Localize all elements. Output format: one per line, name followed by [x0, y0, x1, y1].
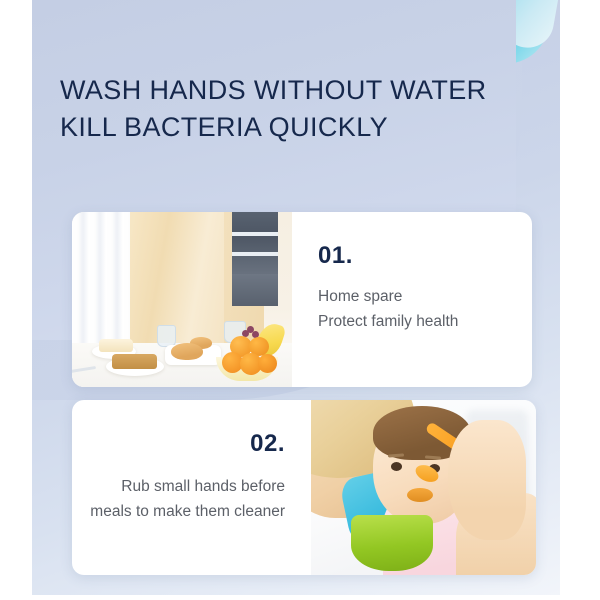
- glass-shape-1: [157, 325, 176, 347]
- feature-photo-breakfast-table: [72, 212, 292, 387]
- feature-card-2[interactable]: 02. Rub small hands before meals to make…: [72, 400, 536, 575]
- feature-card-1-line-2: Protect family health: [318, 309, 510, 334]
- dark-window-shape: [232, 212, 278, 276]
- feature-card-2-line-2: meals to make them cleaner: [90, 499, 285, 524]
- baby-eye-left: [391, 462, 402, 471]
- baby-mouth-shape: [407, 488, 433, 502]
- feature-card-1[interactable]: 01. Home spare Protect family health: [72, 212, 532, 387]
- headline: WASH HANDS WITHOUT WATER KILL BACTERIA Q…: [60, 72, 530, 147]
- mother-hand-shape: [448, 420, 526, 540]
- toast-shape-1: [99, 339, 133, 352]
- feature-card-1-text: 01. Home spare Protect family health: [292, 212, 532, 387]
- promo-panel: WASH HANDS WITHOUT WATER KILL BACTERIA Q…: [32, 0, 560, 595]
- feature-card-2-text: 02. Rub small hands before meals to make…: [72, 400, 311, 575]
- feature-card-2-line-1: Rub small hands before: [121, 474, 285, 499]
- headline-line-2: KILL BACTERIA QUICKLY: [60, 109, 530, 146]
- feature-card-2-number: 02.: [250, 430, 285, 458]
- orange-shape-3: [258, 354, 277, 373]
- feature-card-1-number: 01.: [318, 242, 510, 270]
- dark-window-lower-shape: [232, 274, 278, 306]
- toast-shape-2: [112, 354, 157, 369]
- bread-roll-shape-1: [171, 343, 203, 360]
- feature-card-1-line-1: Home spare: [318, 284, 510, 309]
- feature-photo-mother-feeding-baby: [311, 400, 536, 575]
- green-bowl-shape: [351, 515, 433, 571]
- headline-line-1: WASH HANDS WITHOUT WATER: [60, 72, 530, 109]
